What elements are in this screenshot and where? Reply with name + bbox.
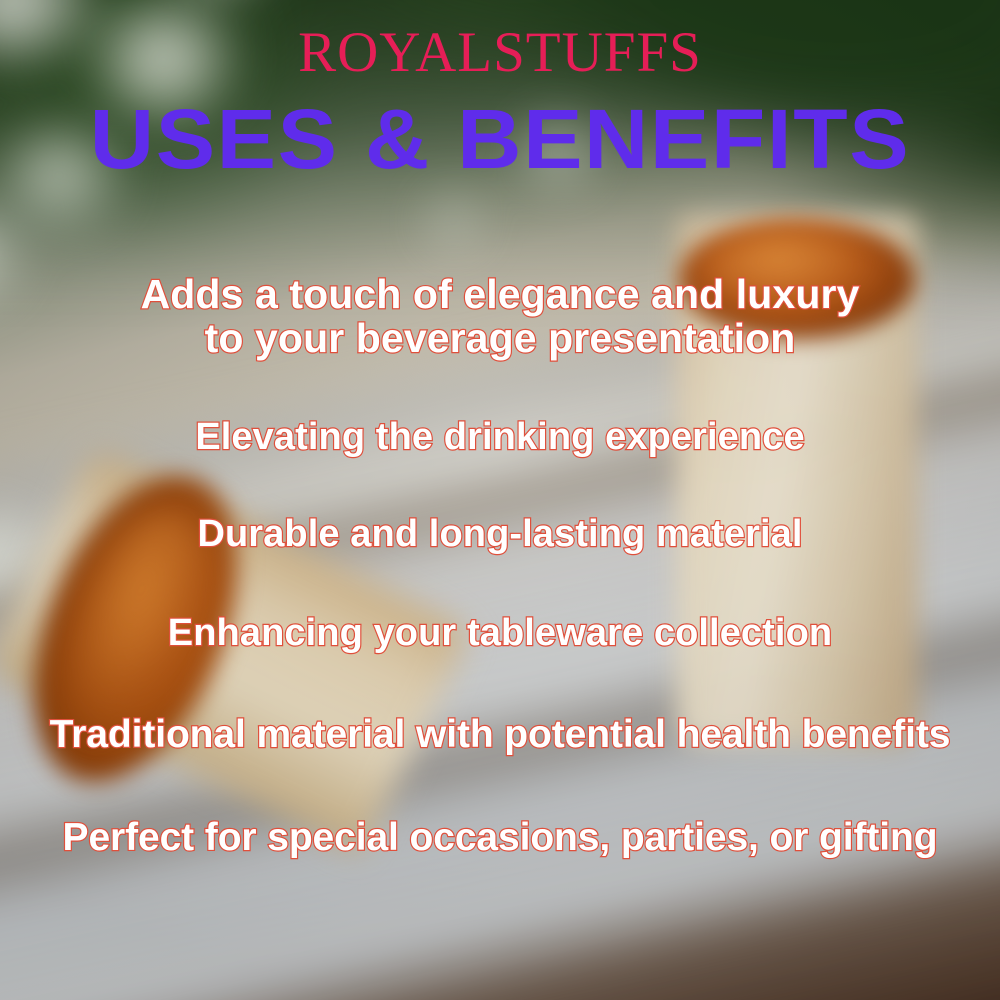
benefits-list: Adds a touch of elegance and luxury to y… [0,272,1000,859]
poster-content: ROYALSTUFFS USES & BENEFITS Adds a touch… [0,0,1000,1000]
brand-wordmark: ROYALSTUFFS [0,24,1000,81]
list-item: Adds a touch of elegance and luxury to y… [0,272,1000,361]
list-item: Durable and long-lasting material [0,514,1000,555]
page-title: USES & BENEFITS [0,97,1000,181]
list-item: Elevating the drinking experience [0,417,1000,458]
list-item: Traditional material with potential heal… [0,714,1000,756]
list-item: Enhancing your tableware collection [0,613,1000,654]
promotional-poster: ROYALSTUFFS USES & BENEFITS Adds a touch… [0,0,1000,1000]
list-item: Perfect for special occasions, parties, … [0,817,1000,859]
